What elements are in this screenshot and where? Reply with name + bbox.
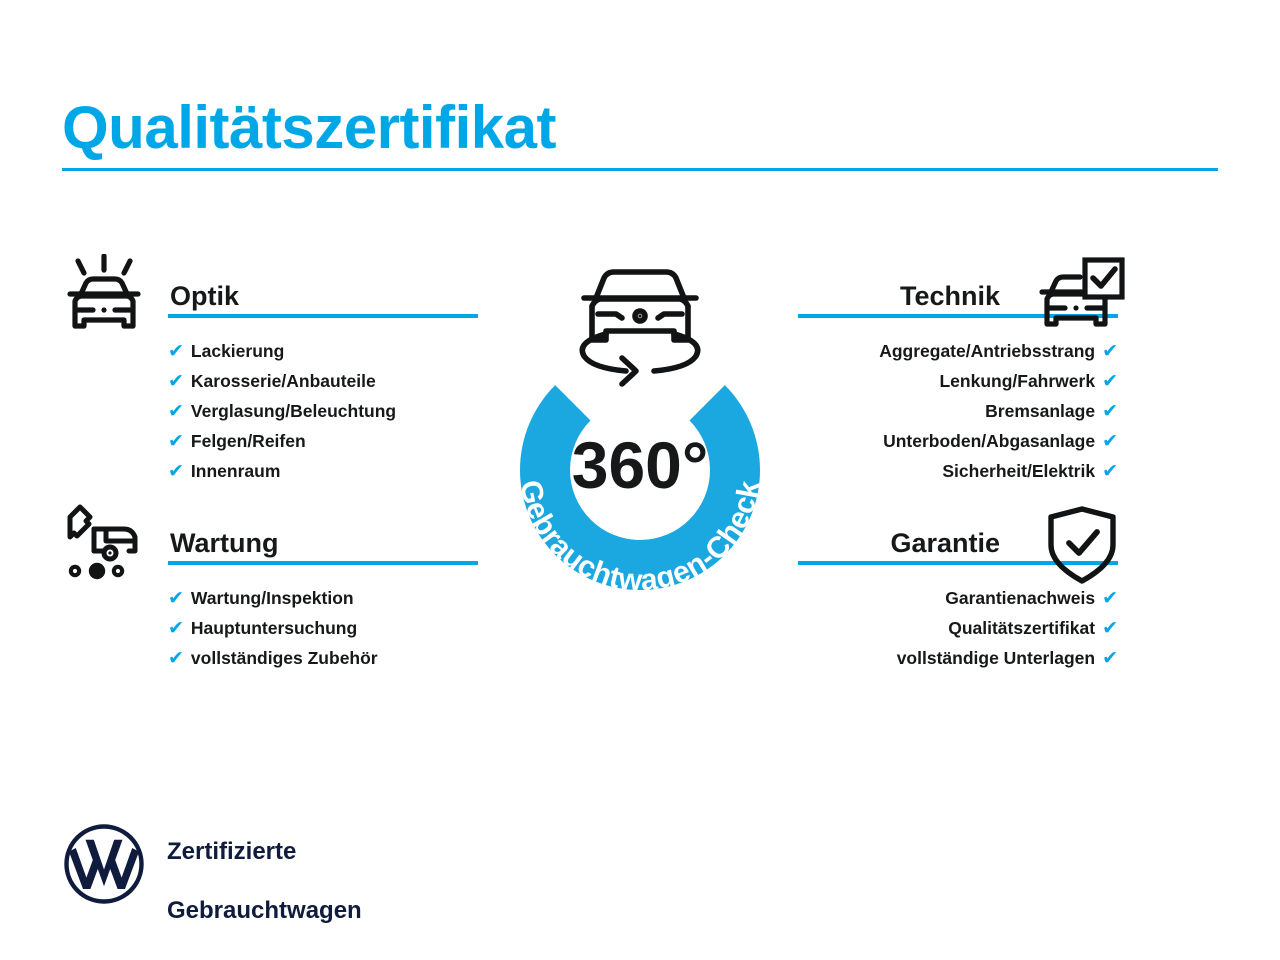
check-icon: ✔: [168, 619, 184, 638]
section-title: Wartung: [170, 528, 278, 559]
list-item-label: Verglasung/Beleuchtung: [191, 396, 396, 426]
check-icon: ✔: [168, 432, 184, 451]
check-icon: ✔: [1102, 462, 1118, 481]
section-header-technik: Technik: [798, 258, 1118, 314]
check-icon: ✔: [168, 649, 184, 668]
list-item-label: Wartung/Inspektion: [191, 583, 354, 613]
list-item: ✔ Karosserie/Anbauteile: [168, 366, 474, 396]
section-title: Garantie: [890, 528, 1000, 559]
list-item-label: Innenraum: [191, 456, 280, 486]
list-item-label: Sicherheit/Elektrik: [942, 456, 1095, 486]
list-item-label: Felgen/Reifen: [191, 426, 306, 456]
header-divider: [62, 168, 1218, 171]
list-item: ✔ Verglasung/Beleuchtung: [168, 396, 474, 426]
list-item: Bremsanlage ✔: [798, 396, 1118, 426]
check-icon: ✔: [1102, 402, 1118, 421]
wrench-car-icon: [58, 501, 150, 598]
list-item-label: Lackierung: [191, 336, 284, 366]
list-item: ✔ Lackierung: [168, 336, 474, 366]
section-wartung: Wartung ✔ Wartung/Inspektion ✔ Hauptunte…: [62, 505, 474, 673]
section-title: Optik: [170, 281, 239, 312]
list-item: ✔ Hauptuntersuchung: [168, 613, 474, 643]
list-item: ✔ Wartung/Inspektion: [168, 583, 474, 613]
list-item-label: Unterboden/Abgasanlage: [883, 426, 1095, 456]
page-title: Qualitätszertifikat: [62, 96, 556, 159]
section-title: Technik: [900, 281, 1000, 312]
checklist-technik: Aggregate/Antriebsstrang ✔ Lenkung/Fahrw…: [798, 336, 1118, 486]
list-item: ✔ Felgen/Reifen: [168, 426, 474, 456]
section-header-optik: Optik: [62, 258, 474, 314]
car-shine-icon: [58, 254, 150, 351]
section-technik: Technik Aggregate/Antriebsstrang ✔ Lenku…: [798, 258, 1118, 486]
check-icon: ✔: [1102, 372, 1118, 391]
section-header-garantie: Garantie: [798, 505, 1118, 561]
list-item: Qualitätszertifikat ✔: [798, 613, 1118, 643]
section-divider-optik: [168, 314, 478, 318]
list-item-label: vollständiges Zubehör: [191, 643, 378, 673]
list-item-label: Karosserie/Anbauteile: [191, 366, 376, 396]
list-item-label: Bremsanlage: [985, 396, 1095, 426]
list-item: Lenkung/Fahrwerk ✔: [798, 366, 1118, 396]
check-icon: ✔: [168, 462, 184, 481]
check-icon: ✔: [1102, 432, 1118, 451]
section-optik: Optik ✔ Lackierung ✔ Karosserie/Anbautei…: [62, 258, 474, 486]
section-garantie: Garantie Garantienachweis ✔ Qualitätszer…: [798, 505, 1118, 673]
list-item-label: vollständige Unterlagen: [897, 643, 1095, 673]
check-icon: ✔: [168, 342, 184, 361]
check-icon: ✔: [1102, 649, 1118, 668]
list-item: Sicherheit/Elektrik ✔: [798, 456, 1118, 486]
list-item-label: Qualitätszertifikat: [948, 613, 1095, 643]
list-item: ✔ vollständiges Zubehör: [168, 643, 474, 673]
check-icon: ✔: [1102, 619, 1118, 638]
check-icon: ✔: [168, 589, 184, 608]
car-rotate-360-icon: [582, 272, 697, 384]
vw-wordmark-line1: Zertifizierte: [167, 838, 296, 865]
shield-check-icon: [1036, 501, 1128, 598]
check-icon: ✔: [168, 402, 184, 421]
list-item: ✔ Innenraum: [168, 456, 474, 486]
vw-wordmark: Zertifizierte Gebrauchtwagen: [167, 808, 362, 925]
check-icon: ✔: [168, 372, 184, 391]
section-divider-wartung: [168, 561, 478, 565]
checklist-optik: ✔ Lackierung ✔ Karosserie/Anbauteile ✔ V…: [62, 336, 474, 486]
car-checkbox-icon: [1036, 254, 1128, 351]
list-item: vollständige Unterlagen ✔: [798, 643, 1118, 673]
list-item-label: Lenkung/Fahrwerk: [939, 366, 1095, 396]
vw-certified-lockup: Zertifizierte Gebrauchtwagen: [63, 808, 362, 925]
badge-center-label: 360°: [572, 428, 709, 502]
vw-wordmark-line2: Gebrauchtwagen: [167, 897, 362, 924]
section-header-wartung: Wartung: [62, 505, 474, 561]
vw-logo: [63, 823, 145, 910]
list-item: Unterboden/Abgasanlage ✔: [798, 426, 1118, 456]
gebrauchtwagen-check-badge: Gebrauchtwagen-Check 360°: [462, 248, 818, 630]
list-item-label: Hauptuntersuchung: [191, 613, 357, 643]
